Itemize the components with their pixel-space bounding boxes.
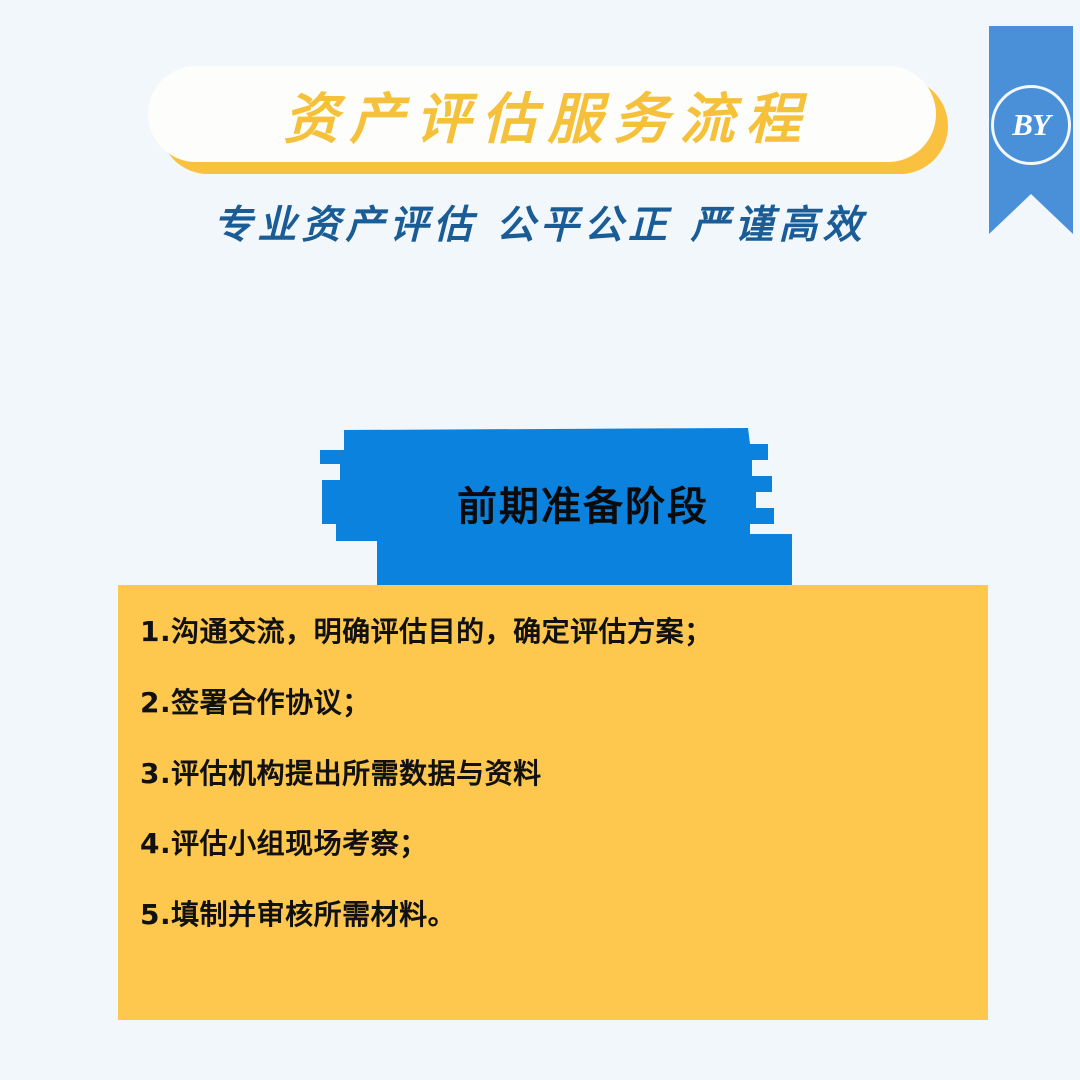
page-subtitle: 专业资产评估 公平公正 严谨高效 bbox=[0, 194, 1080, 250]
step-item: 5.填制并审核所需材料。 bbox=[130, 900, 954, 931]
step-item: 2.签署合作协议； bbox=[130, 688, 954, 719]
badge-initials: BY bbox=[989, 85, 1073, 165]
stage-header-banner: 前期准备阶段 bbox=[300, 420, 820, 592]
steps-card: 1.沟通交流，明确评估目的，确定评估方案； 2.签署合作协议； 3.评估机构提出… bbox=[118, 585, 988, 1020]
title-pill: 资产评估服务流程 bbox=[148, 66, 936, 162]
steps-list: 1.沟通交流，明确评估目的，确定评估方案； 2.签署合作协议； 3.评估机构提出… bbox=[130, 617, 954, 931]
step-item: 3.评估机构提出所需数据与资料 bbox=[130, 759, 954, 790]
step-item: 4.评估小组现场考察； bbox=[130, 829, 954, 860]
stage-title: 前期准备阶段 bbox=[300, 420, 820, 580]
poster-canvas: BY 资产评估服务流程 专业资产评估 公平公正 严谨高效 前期准备阶段 1.沟通… bbox=[0, 0, 1080, 1080]
title-banner: 资产评估服务流程 bbox=[148, 66, 948, 174]
step-item: 1.沟通交流，明确评估目的，确定评估方案； bbox=[130, 617, 954, 648]
page-title: 资产评估服务流程 bbox=[272, 74, 811, 154]
